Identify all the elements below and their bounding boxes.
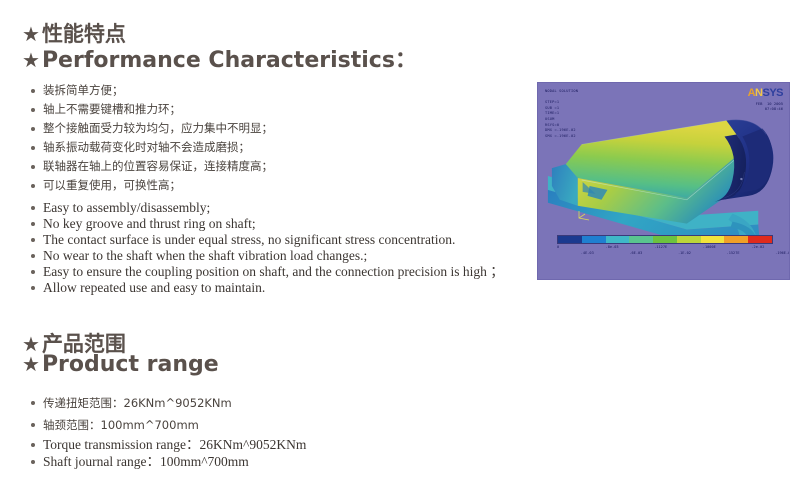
colorbar-tick-label: .8e-03 (606, 245, 619, 249)
colorbar-tick-label: .1127E (654, 245, 667, 249)
performance-bullets-cn: 装拆简单方便； 轴上不需要键槽和推力环； 整个接触面受力较为均匀，应力集中不明显… (30, 81, 273, 195)
product-range-bullets-cn: 传递扭矩范围：26KNm^9052KNm 轴颈范围：100mm^700mm (30, 392, 232, 436)
list-item: 轴上不需要键槽和推力环； (30, 100, 273, 119)
colorbar-band-1 (582, 236, 606, 243)
colorbar-tick-label: .1000E (703, 245, 716, 249)
fea-contour-figure: NODAL SOLUTION STEP=1 SUB =1 TIME=1 USUM… (537, 82, 790, 280)
product-range-heading-en: ★Product range (22, 352, 219, 377)
performance-heading-en: ★Performance Characteristics： (22, 42, 417, 74)
list-item: Allow repeated use and easy to maintain. (30, 280, 504, 296)
list-item: Easy to assembly/disassembly; (30, 200, 504, 216)
fea-colorbar: 0.8e-03.1127E.1000E.2e-02 .4E-03.6E-03.1… (557, 235, 773, 257)
list-item: 可以重复使用，可换性高； (30, 176, 273, 195)
colorbar-tick-label: .4E-03 (581, 251, 594, 255)
list-item: 整个接触面受力较为均匀，应力集中不明显； (30, 119, 273, 138)
product-range-heading-en-text: Product range (42, 352, 219, 377)
colorbar-tick-label: 0 (557, 245, 559, 249)
list-item: The contact surface is under equal stres… (30, 232, 504, 248)
colorbar-tick-label: .1527E (727, 251, 740, 255)
list-item: No key groove and thrust ring on shaft; (30, 216, 504, 232)
colorbar-tick-label: .2e-02 (751, 245, 764, 249)
colorbar-tick-label: .6E-03 (629, 251, 642, 255)
star-icon: ★ (22, 354, 40, 374)
colorbar-gradient (557, 235, 773, 244)
list-item: 联轴器在轴上的位置容易保证，连接精度高； (30, 157, 273, 176)
colorbar-band-5 (677, 236, 701, 243)
colorbar-band-0 (558, 236, 582, 243)
page-root: ★性能特点 ★Performance Characteristics： 装拆简单… (0, 0, 811, 477)
list-item: Easy to ensure the coupling position on … (30, 264, 504, 280)
list-item: 传递扭矩范围：26KNm^9052KNm (30, 392, 232, 414)
colorbar-labels: 0.8e-03.1127E.1000E.2e-02 .4E-03.6E-03.1… (557, 245, 773, 257)
colorbar-tick-label: .196E-02 (775, 251, 790, 255)
colorbar-band-3 (629, 236, 653, 243)
colorbar-band-8 (748, 236, 772, 243)
colorbar-band-6 (701, 236, 725, 243)
colorbar-band-7 (724, 236, 748, 243)
list-item: Torque transmission range：26KNm^9052KNm (30, 436, 306, 453)
list-item: 装拆简单方便； (30, 81, 273, 100)
star-icon: ★ (22, 24, 40, 44)
performance-bullets-en: Easy to assembly/disassembly; No key gro… (30, 200, 504, 296)
colorbar-band-2 (606, 236, 630, 243)
colorbar-tick-label: .1E-02 (678, 251, 691, 255)
product-range-bullets-en: Torque transmission range：26KNm^9052KNm … (30, 436, 306, 470)
axis-triad-icon (576, 208, 592, 223)
colorbar-band-4 (653, 236, 677, 243)
list-item: 轴系振动载荷变化时对轴不会造成磨损； (30, 138, 273, 157)
performance-heading-en-text: Performance Characteristics： (42, 48, 417, 73)
list-item: Shaft journal range：100mm^700mm (30, 453, 306, 470)
list-item: No wear to the shaft when the shaft vibr… (30, 248, 504, 264)
list-item: 轴颈范围：100mm^700mm (30, 414, 232, 436)
star-icon: ★ (22, 334, 40, 354)
star-icon: ★ (22, 50, 40, 70)
